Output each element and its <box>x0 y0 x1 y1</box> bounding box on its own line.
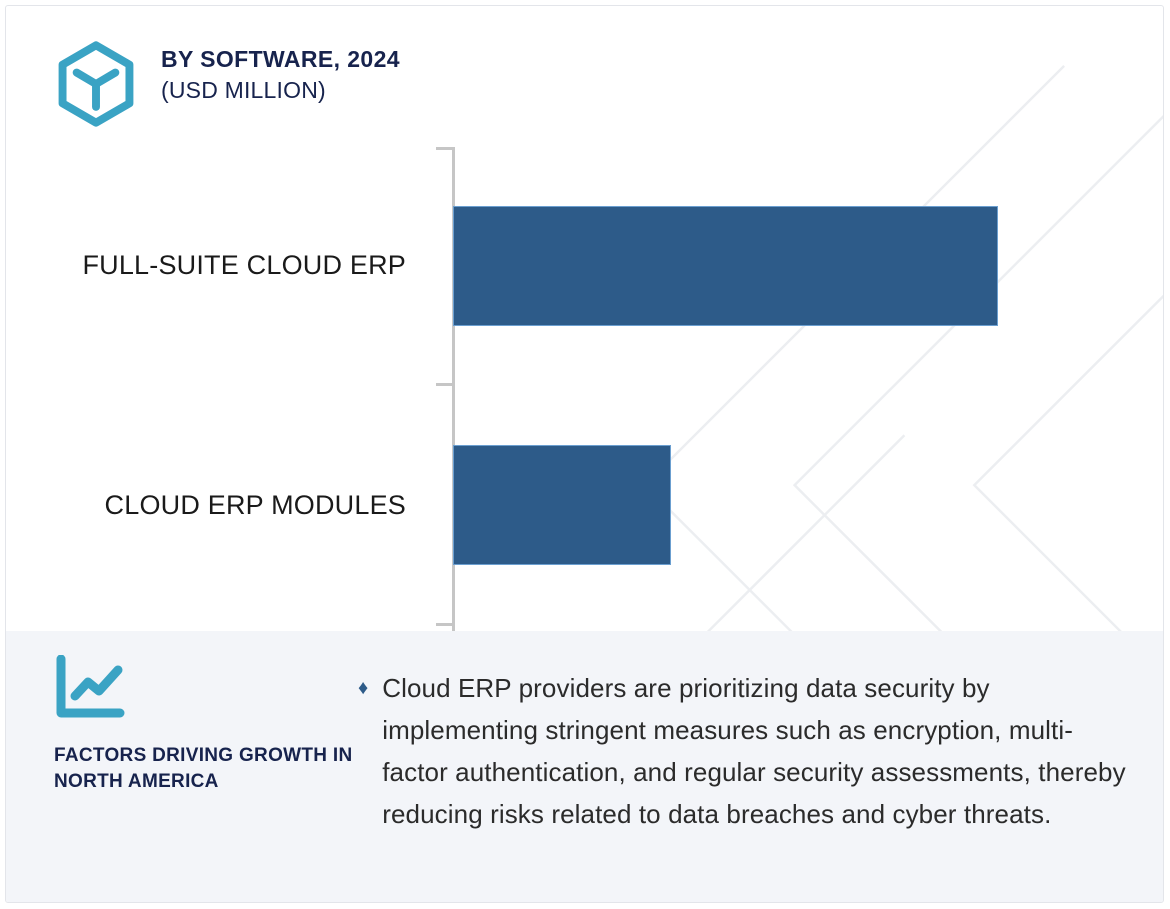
list-item: ♦ Cloud ERP providers are prioritizing d… <box>358 667 1127 835</box>
category-label-full-suite-cloud-erp: FULL-SUITE CLOUD ERP <box>82 250 406 281</box>
card-header: BY SOFTWARE, 2024 (USD MILLION) <box>6 6 1163 136</box>
diamond-bullet-icon: ♦ <box>358 667 368 709</box>
bar-full-suite-cloud-erp <box>453 206 998 326</box>
footer-panel: FACTORS DRIVING GROWTH IN NORTH AMERICA … <box>6 631 1163 903</box>
page-subtitle: (USD MILLION) <box>161 74 400 106</box>
axis-tick-middle <box>436 383 453 386</box>
category-label-cloud-erp-modules: CLOUD ERP MODULES <box>105 490 406 521</box>
page-title: BY SOFTWARE, 2024 <box>161 44 400 74</box>
bar-cloud-erp-modules <box>453 445 671 565</box>
chart-card: BY SOFTWARE, 2024 (USD MILLION) FULL-SUI… <box>0 0 1170 909</box>
hexagon-y-logo-icon <box>52 40 140 128</box>
header-text-block: BY SOFTWARE, 2024 (USD MILLION) <box>161 44 400 106</box>
bullet-text: Cloud ERP providers are prioritizing dat… <box>382 667 1127 835</box>
footer-heading: FACTORS DRIVING GROWTH IN NORTH AMERICA <box>54 743 354 795</box>
footer-bullet-list: ♦ Cloud ERP providers are prioritizing d… <box>358 667 1127 835</box>
axis-tick-bottom <box>436 623 453 626</box>
card-frame: BY SOFTWARE, 2024 (USD MILLION) FULL-SUI… <box>5 5 1164 903</box>
axis-tick-top <box>436 147 453 150</box>
bar-chart: FULL-SUITE CLOUD ERP CLOUD ERP MODULES <box>6 136 1163 636</box>
footer-left-block: FACTORS DRIVING GROWTH IN NORTH AMERICA <box>54 655 354 795</box>
line-chart-trend-icon <box>54 655 126 721</box>
